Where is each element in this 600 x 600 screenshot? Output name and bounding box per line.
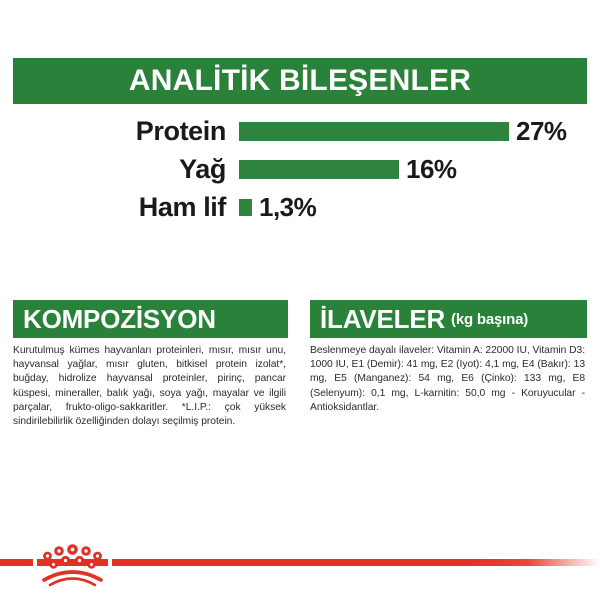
additives-body-text: Beslenmeye dayalı ilaveler: Vitamin A: 2… [310, 344, 587, 415]
analytical-section-header: ANALİTİK BİLEŞENLER [13, 58, 587, 104]
additives-section-header: İLAVELER (kg başına) [310, 300, 587, 338]
bar-track: 16% [226, 156, 587, 182]
bar-fill [239, 122, 509, 141]
bar-track: 27% [226, 118, 587, 144]
bar-fill [239, 160, 399, 179]
bar-category-label: Yağ [13, 154, 226, 184]
composition-section-header: KOMPOZİSYON [13, 300, 288, 338]
royal-canin-crown-logo [35, 540, 110, 588]
bar-value-label: 27% [516, 118, 567, 144]
analytical-section-title: ANALİTİK BİLEŞENLER [129, 66, 471, 96]
chart-row: Yağ 16% [13, 152, 587, 186]
analytical-bar-chart: Protein 27% Yağ 16% Ham lif 1,3% [13, 112, 587, 227]
crown-icon [35, 540, 110, 588]
bar-category-label: Ham lif [13, 192, 226, 222]
bar-category-label: Protein [13, 116, 226, 146]
composition-body-text: Kurutulmuş kümes hayvanları proteinleri,… [13, 344, 288, 429]
chart-row: Ham lif 1,3% [13, 190, 587, 224]
bar-value-label: 1,3% [259, 194, 316, 220]
composition-section-title: KOMPOZİSYON [23, 306, 216, 332]
additives-section: İLAVELER (kg başına) Beslenmeye dayalı i… [310, 300, 587, 415]
bar-track: 1,3% [226, 194, 587, 220]
chart-row: Protein 27% [13, 114, 587, 148]
additives-section-subtitle: (kg başına) [451, 312, 528, 327]
composition-section: KOMPOZİSYON Kurutulmuş kümes hayvanları … [13, 300, 288, 429]
bar-value-label: 16% [406, 156, 457, 182]
bar-fill [239, 199, 252, 216]
additives-section-title: İLAVELER [320, 306, 445, 332]
product-info-panel: ANALİTİK BİLEŞENLER Protein 27% Yağ 16% … [0, 0, 600, 600]
